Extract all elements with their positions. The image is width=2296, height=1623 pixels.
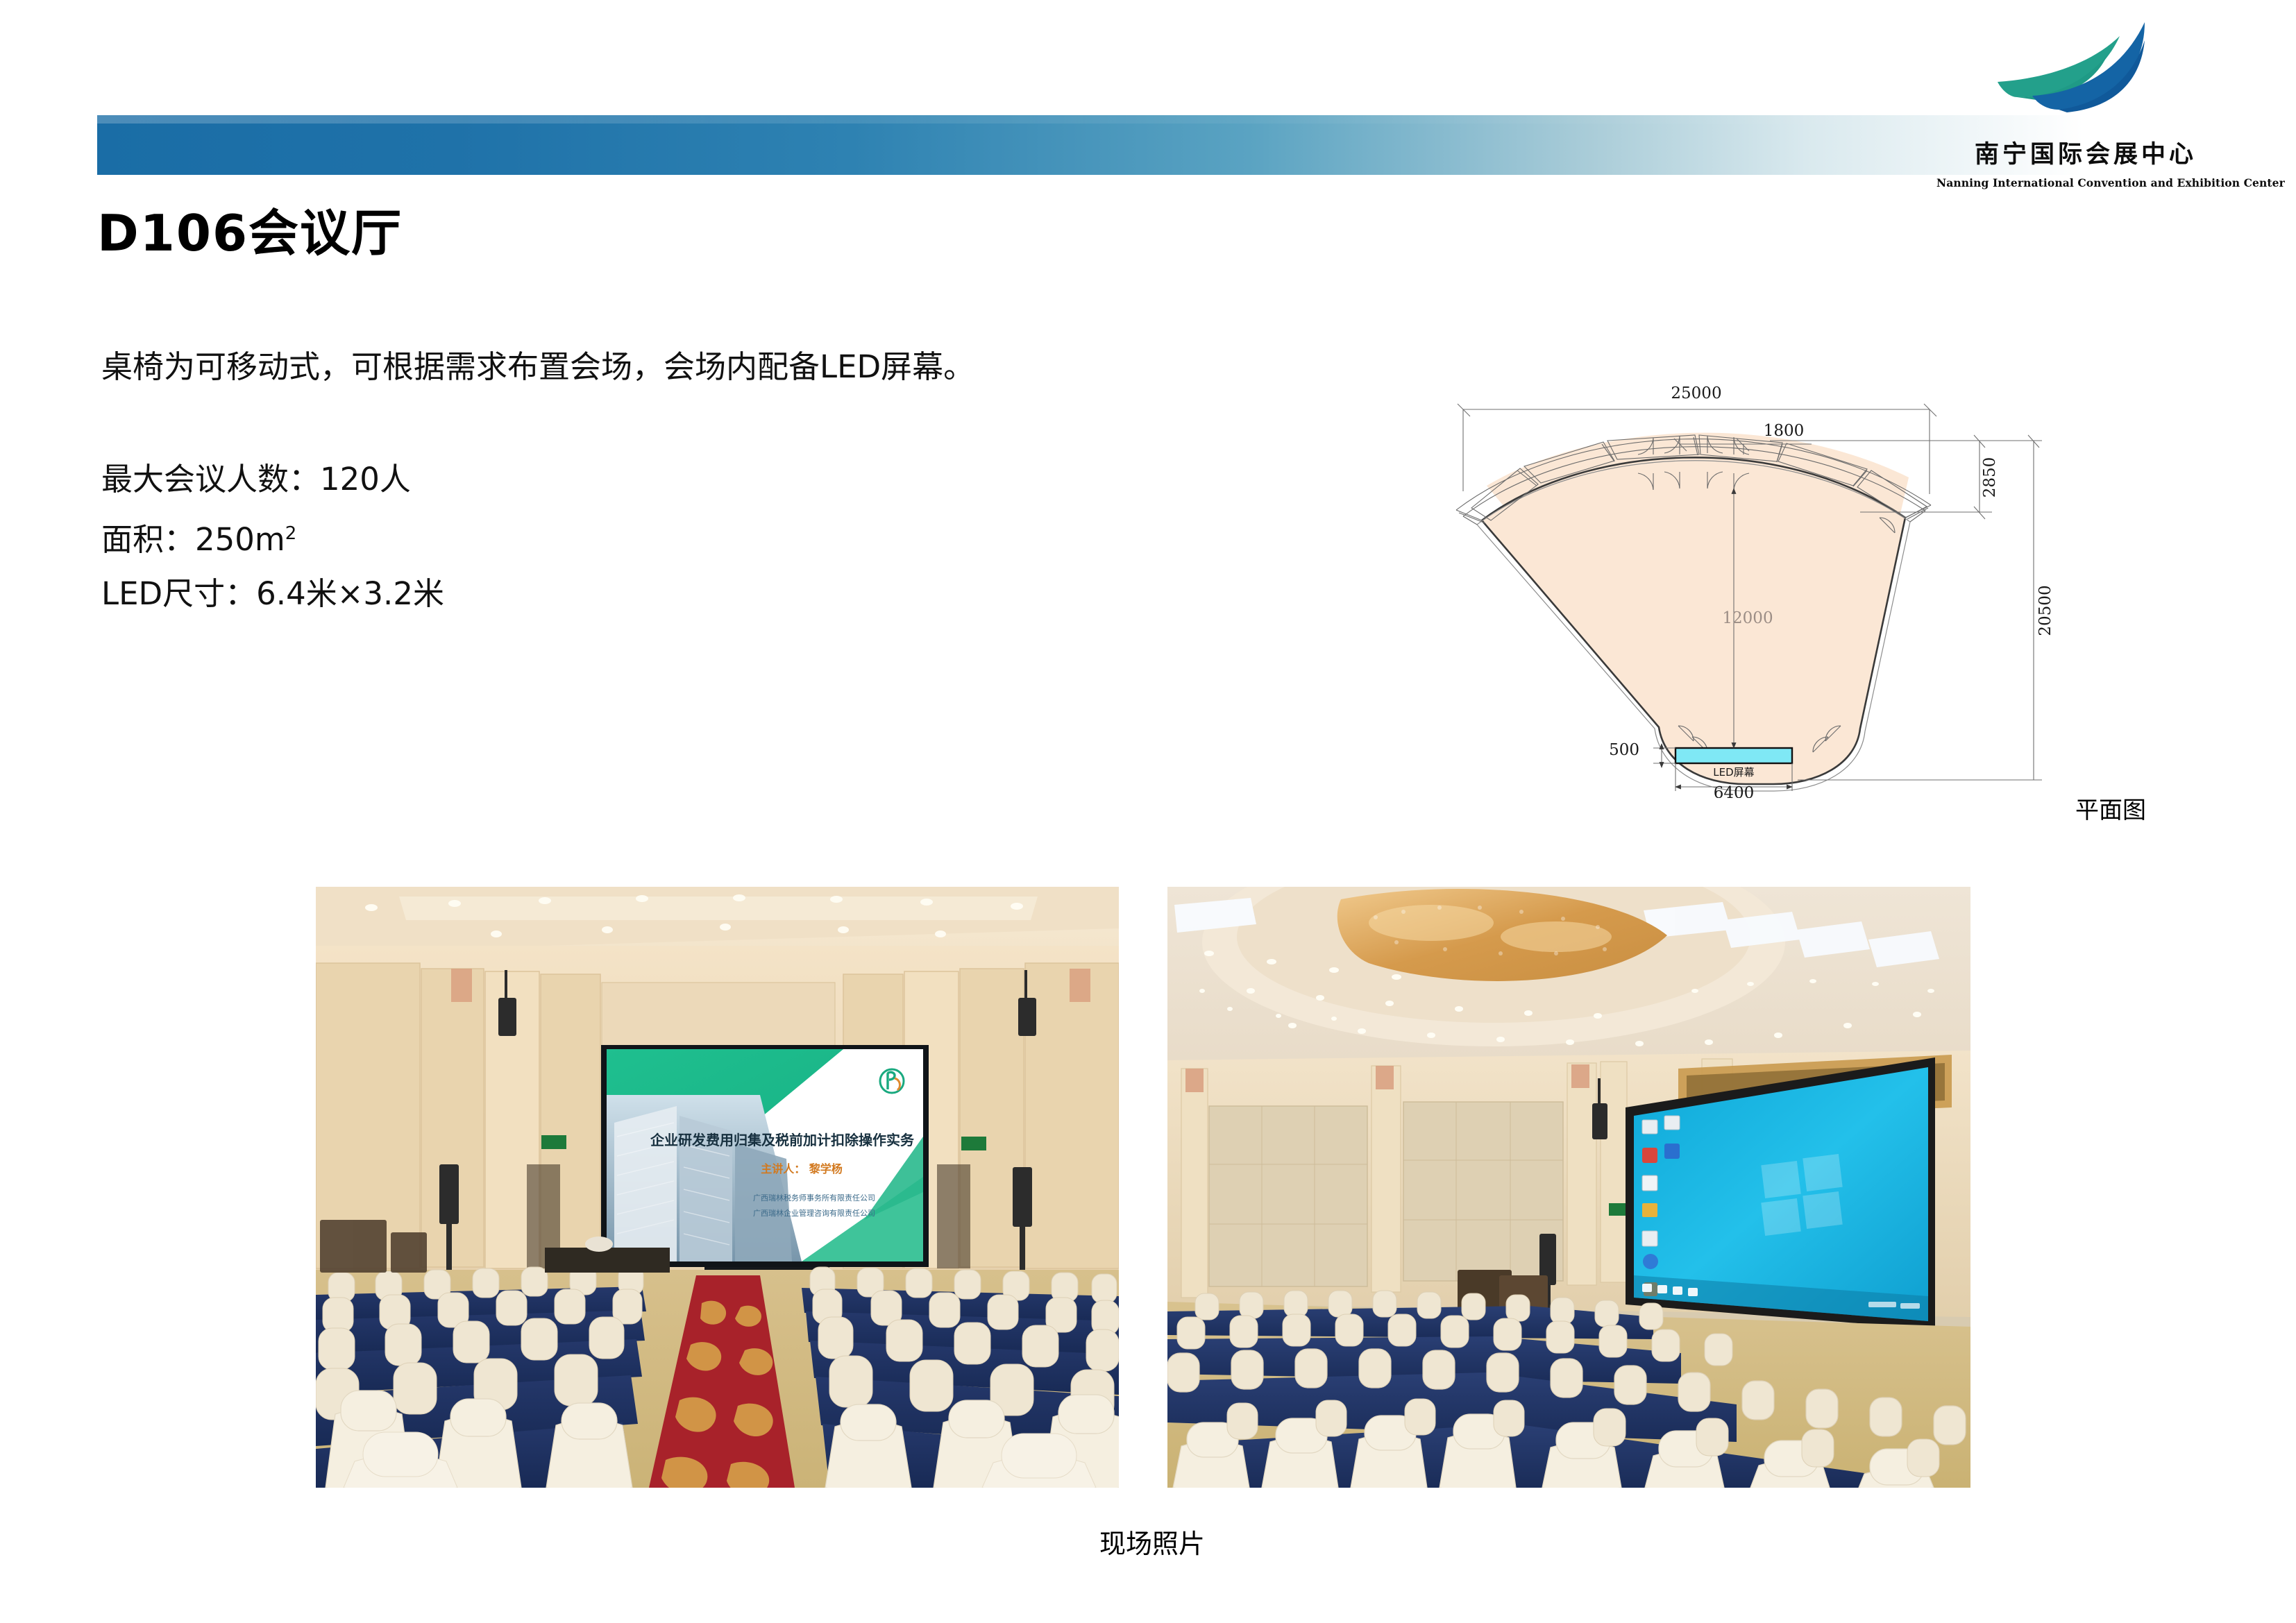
dim-led-width: 6400 (1714, 784, 1755, 798)
logo-name-en: Nanning International Convention and Exh… (1936, 176, 2235, 189)
dim-total-depth: 20500 (2036, 585, 2054, 636)
spec-capacity: 最大会议人数：120人 (101, 452, 444, 507)
spec-area-exponent: 2 (285, 523, 297, 544)
slide-title: 企业研发费用归集及税前加计扣除操作实务 (650, 1132, 915, 1148)
floor-plan-diagram: .dl{stroke:#6f6f6f;stroke-width:1.1;fill… (1381, 312, 2075, 798)
slide-presenter: 主讲人： 黎学杨 (761, 1162, 843, 1175)
slide-org-1: 广西瑞林税务师事务所有限责任公司 (753, 1193, 875, 1203)
photo-conference-room-presentation: 企业研发费用归集及税前加计扣除操作实务 主讲人： 黎学杨 广西瑞林税务师事务所有… (316, 887, 1119, 1488)
spec-area: 面积：250m2 (101, 507, 444, 567)
header-bar-sheen (97, 115, 2084, 124)
dim-lobby-depth: 2850 (1981, 457, 1999, 498)
photo-conference-room-led-desktop (1167, 887, 1970, 1488)
floor-plan-caption: 平面图 (2075, 791, 2242, 825)
dim-width-top: 25000 (1671, 384, 1721, 402)
logo-name-cn: 南宁国际会展中心 (1936, 143, 2235, 167)
header-gradient-bar (97, 115, 2084, 175)
room-description: 桌椅为可移动式，可根据需求布置会场，会场内配备LED屏幕。 (101, 341, 974, 386)
room-spec-list: 最大会议人数：120人 面积：250m2 LED尺寸：6.4米×3.2米 (101, 452, 444, 621)
led-screen-label: LED屏幕 (1713, 766, 1754, 779)
photos-caption: 现场照片 (958, 1522, 1347, 1561)
dim-door-bay: 1800 (1764, 422, 1805, 440)
swoosh-logo-icon (1991, 12, 2185, 137)
spec-area-text: 面积：250m (101, 521, 285, 558)
dim-stage-depth: 500 (1609, 741, 1639, 759)
brand-logo: 南宁国际会展中心 Nanning International Conventio… (1936, 12, 2235, 193)
page-title: D106会议厅 (97, 208, 403, 258)
slide-org-2: 广西瑞林企业管理咨询有限责任公司 (753, 1208, 875, 1218)
spec-led-size: LED尺寸：6.4米×3.2米 (101, 567, 444, 621)
led-screen-shape (1675, 748, 1792, 763)
dim-room-depth: 12000 (1722, 609, 1773, 627)
